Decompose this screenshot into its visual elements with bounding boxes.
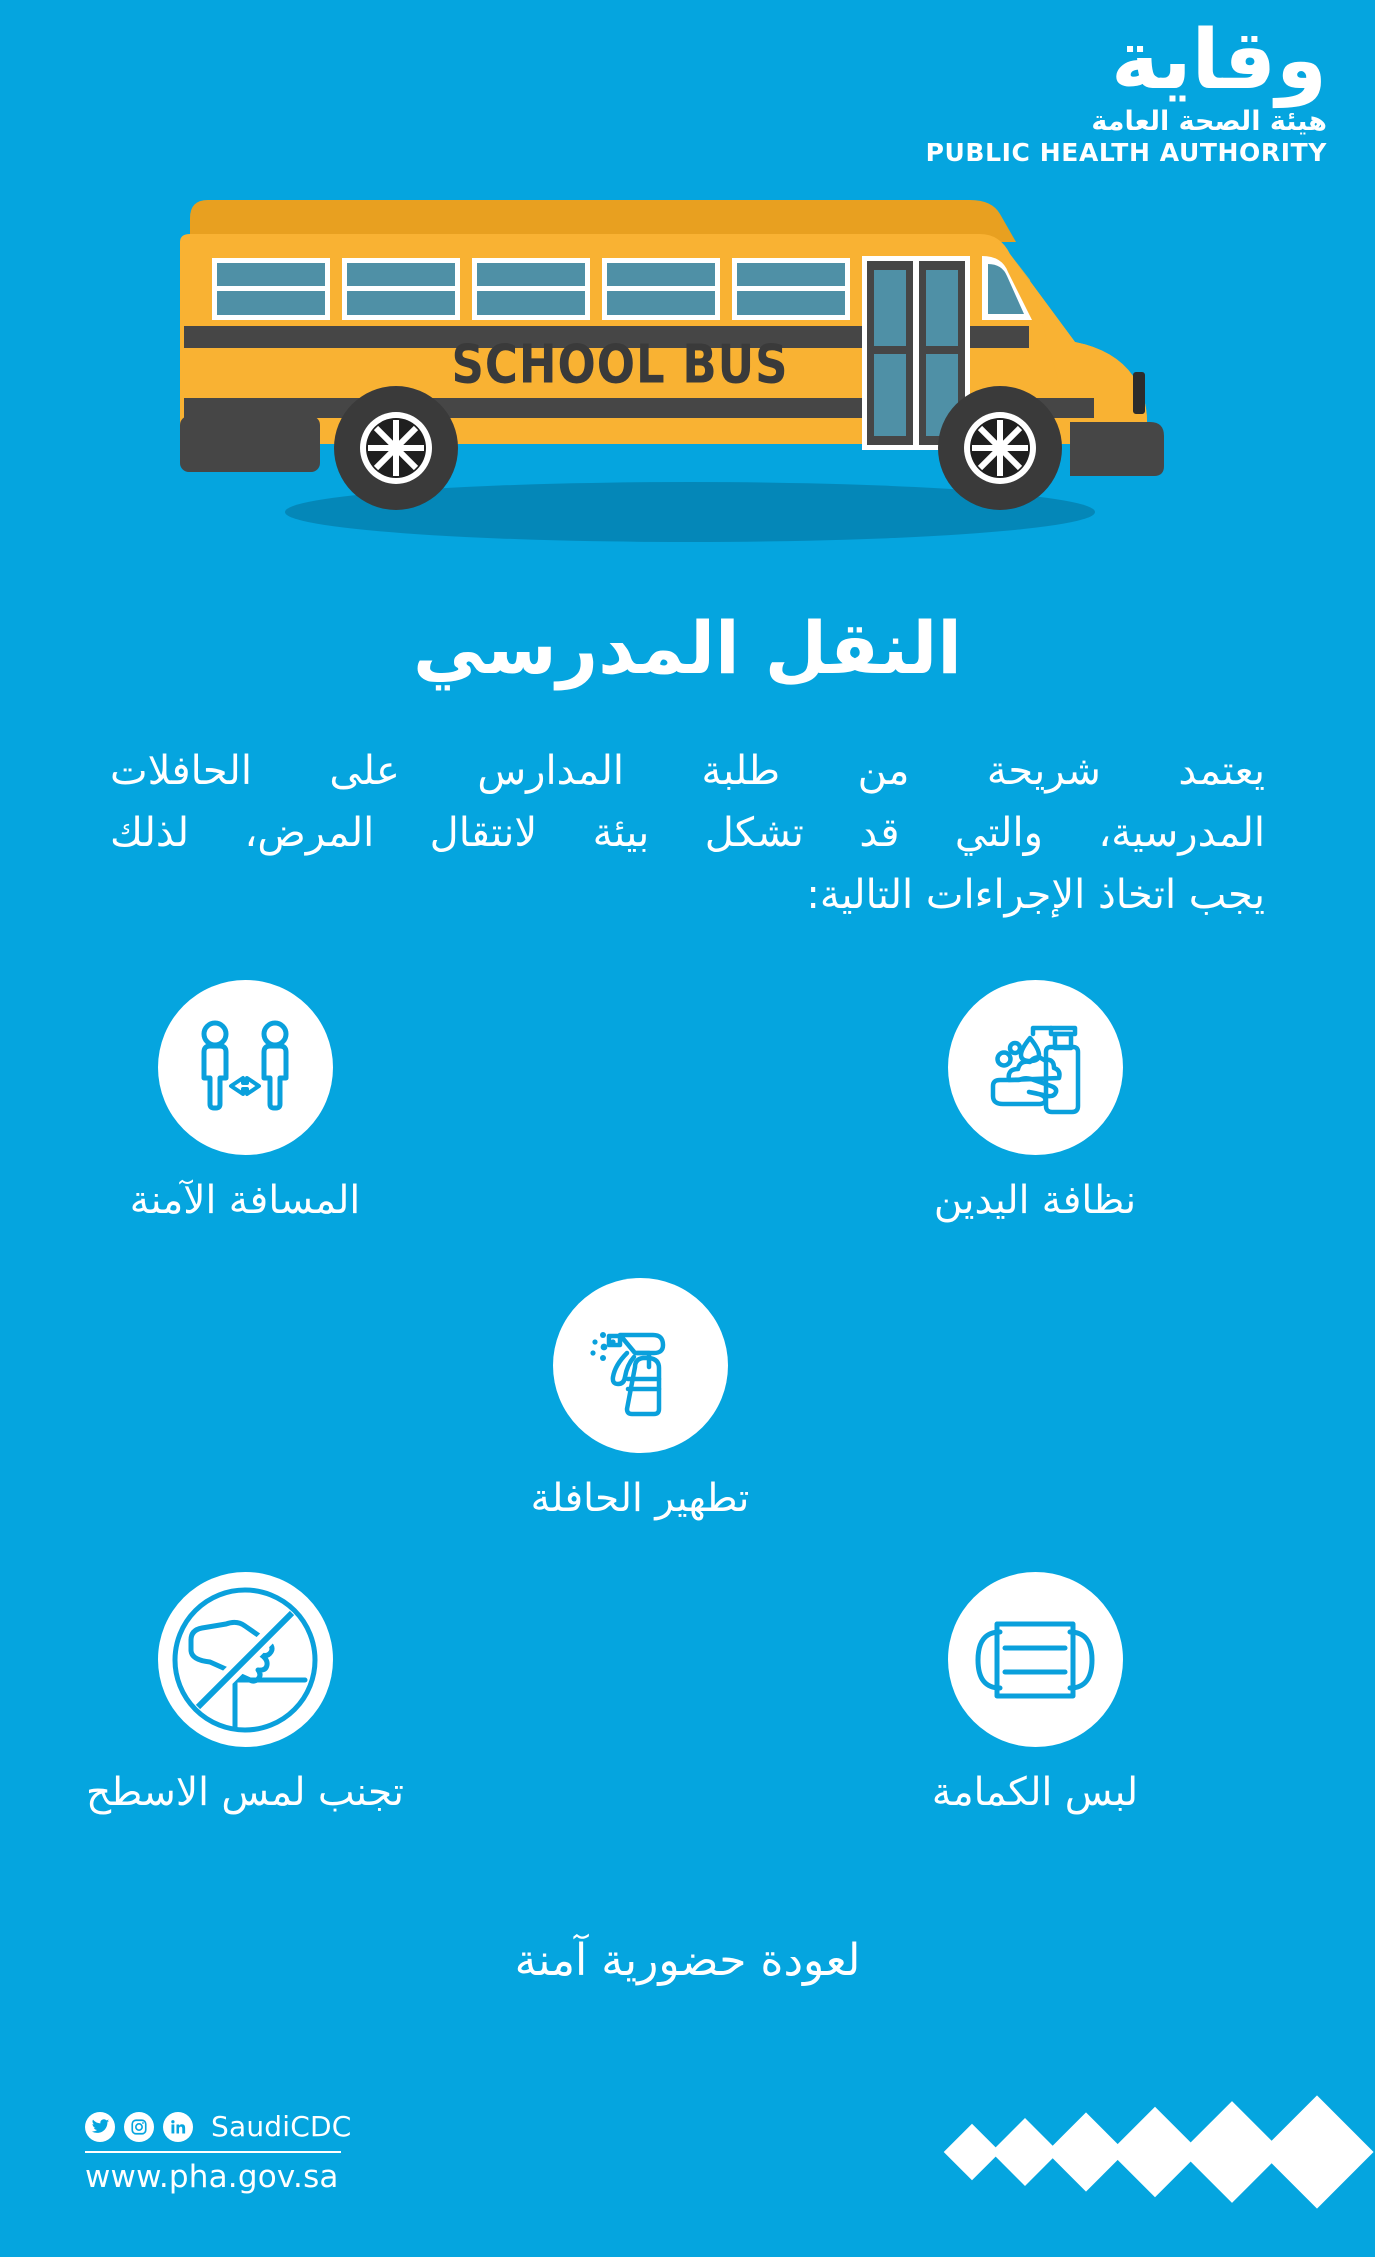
measure-item-distance: المسافة الآمنة (35, 980, 455, 1226)
bus-front-wheel (938, 386, 1062, 510)
social-handle: SaudiCDC (211, 2110, 352, 2143)
measure-icon-disc (948, 1572, 1123, 1747)
no-touch-surface-icon (169, 1584, 321, 1736)
face-mask-icon (972, 1610, 1098, 1710)
instagram-icon[interactable] (124, 2112, 154, 2142)
intro-line-2: المدرسية، والتي قد تشكل بيئة لانتقال الم… (110, 802, 1265, 864)
footer-contact-block: SaudiCDC www.pha.gov.sa (85, 2110, 355, 2195)
social-links-row: SaudiCDC (85, 2110, 355, 2143)
bus-windows (212, 258, 850, 320)
intro-paragraph: يعتمد شريحة من طلبة المدارس على الحافلات… (110, 740, 1265, 926)
distance-arrow (231, 1078, 259, 1094)
measure-icon-disc (158, 1572, 333, 1747)
measure-item-hands: نظافة اليدين (825, 980, 1245, 1226)
measure-label-sanitize: تطهير الحافلة (430, 1475, 850, 1524)
linkedin-icon[interactable] (163, 2112, 193, 2142)
intro-line-3: يجب اتخاذ الإجراءات التالية: (110, 864, 1265, 926)
spray-bottle-icon (579, 1305, 701, 1427)
measure-label-mask: لبس الكمامة (825, 1769, 1245, 1818)
diamond-decoration (952, 2112, 1357, 2192)
footer-divider (85, 2151, 341, 2153)
bus-rear-bumper (180, 416, 320, 472)
twitter-icon[interactable] (85, 2112, 115, 2142)
page-title: النقل المدرسي (0, 605, 1375, 691)
measure-label-hands: نظافة اليدين (825, 1177, 1245, 1226)
measure-label-distance: المسافة الآمنة (35, 1177, 455, 1226)
footer-website-url[interactable]: www.pha.gov.sa (85, 2159, 355, 2195)
diamond-shape-6 (1260, 2095, 1373, 2208)
measure-icon-disc (553, 1278, 728, 1453)
logo-wordmark: وقاية (926, 18, 1327, 104)
bus-headlight (1133, 372, 1145, 414)
social-distance-icon (185, 1008, 305, 1128)
measure-icon-disc (948, 980, 1123, 1155)
infographic-poster: وقاية هيئة الصحة العامة PUBLIC HEALTH AU… (0, 0, 1375, 2257)
bus-front-bumper (1070, 422, 1164, 476)
measure-item-surfaces: تجنب لمس الاسطح (35, 1572, 455, 1818)
bus-rear-wheel (334, 386, 458, 510)
intro-line-1: يعتمد شريحة من طلبة المدارس على الحافلات (110, 740, 1265, 802)
school-bus-illustration: SCHOOL BUS (170, 130, 1195, 550)
closing-tagline: لعودة حضورية آمنة (0, 1935, 1375, 1986)
measure-icon-disc (158, 980, 333, 1155)
hand-washing-icon (973, 1006, 1097, 1130)
measure-label-surfaces: تجنب لمس الاسطح (35, 1769, 455, 1818)
bus-side-text: SCHOOL BUS (451, 333, 788, 396)
measure-item-mask: لبس الكمامة (825, 1572, 1245, 1818)
measure-item-sanitize: تطهير الحافلة (430, 1278, 850, 1524)
